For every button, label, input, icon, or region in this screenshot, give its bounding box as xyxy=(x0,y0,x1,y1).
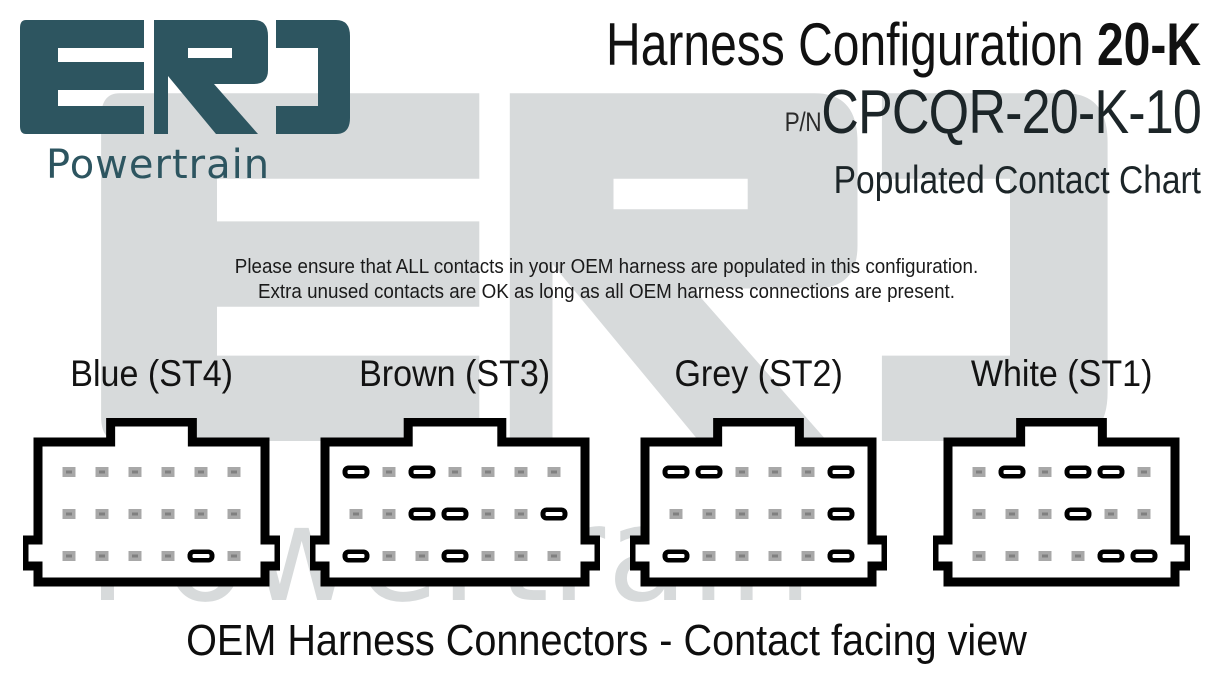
cavity-empty xyxy=(735,509,748,519)
cavity-empty xyxy=(96,551,109,561)
cavity-populated xyxy=(1097,550,1124,563)
cavity-populated xyxy=(1097,466,1124,479)
cavity-empty xyxy=(1038,467,1051,477)
cavity-empty xyxy=(768,467,781,477)
housing-outline xyxy=(24,422,279,582)
cavity-empty xyxy=(768,551,781,561)
cavity-empty xyxy=(1071,551,1084,561)
cavity-empty xyxy=(547,551,560,561)
connector-label-white-st1: White (ST1) xyxy=(922,350,1201,402)
part-number-label: P/N xyxy=(785,107,822,137)
connector-label-brown-st3: Brown (ST3) xyxy=(315,350,594,402)
cavity-populated xyxy=(188,550,215,563)
connector-white-st1 xyxy=(910,418,1213,614)
cavity-populated xyxy=(1130,550,1157,563)
cavity-empty xyxy=(195,467,208,477)
cavity-empty xyxy=(63,467,76,477)
cavity-empty xyxy=(349,509,362,519)
cavity-empty xyxy=(129,467,142,477)
cavity-empty xyxy=(972,509,985,519)
header: Powertrain Harness Configuration 20-K P/… xyxy=(0,0,1213,240)
cavity-empty xyxy=(669,509,682,519)
cavity-empty xyxy=(382,509,395,519)
cavity-empty xyxy=(162,467,175,477)
cavity-empty xyxy=(63,551,76,561)
cavity-empty xyxy=(735,551,748,561)
cavity-empty xyxy=(96,467,109,477)
cavity-empty xyxy=(801,467,814,477)
cavity-populated xyxy=(827,508,854,521)
part-number-value: CPCQR-20-K-10 xyxy=(821,78,1201,147)
connector-housing-grey-st2 xyxy=(630,418,887,588)
cavity-populated xyxy=(695,466,722,479)
cavity-empty xyxy=(415,551,428,561)
part-number-line: P/NCPCQR-20-K-10 xyxy=(495,84,1201,158)
cavity-empty xyxy=(228,467,241,477)
erd-logo-mark xyxy=(18,14,358,142)
connector-diagram-row xyxy=(0,418,1213,614)
cavity-empty xyxy=(1005,551,1018,561)
cavity-populated xyxy=(408,508,435,521)
cavity-populated xyxy=(342,466,369,479)
cavity-empty xyxy=(129,551,142,561)
footer-caption: OEM Harness Connectors - Contact facing … xyxy=(61,612,1153,670)
page-title: Harness Configuration 20-K xyxy=(529,14,1201,76)
notice-line-1: Please ensure that ALL contacts in your … xyxy=(36,255,1176,280)
cavity-empty xyxy=(162,509,175,519)
brand-wordmark: Powertrain xyxy=(46,142,270,188)
cavity-empty xyxy=(448,467,461,477)
connector-grey-st2 xyxy=(607,418,910,614)
cavity-empty xyxy=(514,509,527,519)
cavity-empty xyxy=(162,551,175,561)
cavity-empty xyxy=(702,509,715,519)
title-block: Harness Configuration 20-K P/NCPCQR-20-K… xyxy=(361,14,1201,203)
cavity-empty xyxy=(1137,509,1150,519)
cavity-populated xyxy=(441,508,468,521)
cavity-populated xyxy=(540,508,567,521)
cavity-empty xyxy=(481,551,494,561)
cavity-empty xyxy=(481,509,494,519)
cavity-empty xyxy=(1038,551,1051,561)
connector-housing-brown-st3 xyxy=(310,418,600,588)
cavity-populated xyxy=(1064,508,1091,521)
cavity-empty xyxy=(801,551,814,561)
cavity-empty xyxy=(1137,467,1150,477)
cavity-populated xyxy=(1064,466,1091,479)
cavity-empty xyxy=(702,551,715,561)
cavity-populated xyxy=(662,550,689,563)
cavity-empty xyxy=(96,509,109,519)
page-subtitle: Populated Contact Chart xyxy=(479,159,1201,203)
cavity-empty xyxy=(768,509,781,519)
cavity-populated xyxy=(342,550,369,563)
notice-block: Please ensure that ALL contacts in your … xyxy=(0,255,1213,305)
cavity-empty xyxy=(1005,509,1018,519)
notice-line-2: Extra unused contacts are OK as long as … xyxy=(36,280,1176,305)
brand-logo: Powertrain xyxy=(18,14,358,194)
document-page: Powertrain Harness Configuration 20-K P/… xyxy=(0,0,1213,682)
cavity-populated xyxy=(441,550,468,563)
cavity-populated xyxy=(827,466,854,479)
connector-label-grey-st2: Grey (ST2) xyxy=(619,350,898,402)
cavity-empty xyxy=(1038,509,1051,519)
cavity-empty xyxy=(801,509,814,519)
cavity-empty xyxy=(228,509,241,519)
cavity-empty xyxy=(547,467,560,477)
cavity-empty xyxy=(63,509,76,519)
cavity-empty xyxy=(972,551,985,561)
cavity-empty xyxy=(514,551,527,561)
cavity-empty xyxy=(1104,509,1117,519)
connector-housing-blue-st4 xyxy=(23,418,280,588)
cavity-empty xyxy=(514,467,527,477)
cavity-populated xyxy=(827,550,854,563)
cavity-empty xyxy=(382,551,395,561)
connector-label-row: Blue (ST4)Brown (ST3)Grey (ST2)White (ST… xyxy=(0,350,1213,402)
cavity-populated xyxy=(408,466,435,479)
cavity-empty xyxy=(735,467,748,477)
connector-label-blue-st4: Blue (ST4) xyxy=(12,350,291,402)
cavity-empty xyxy=(228,551,241,561)
connector-blue-st4 xyxy=(0,418,303,614)
cavity-empty xyxy=(382,467,395,477)
connector-brown-st3 xyxy=(303,418,606,614)
cavity-populated xyxy=(998,466,1025,479)
connector-housing-white-st1 xyxy=(933,418,1190,588)
cavity-empty xyxy=(129,509,142,519)
cavity-empty xyxy=(972,467,985,477)
page-title-code: 20-K xyxy=(1097,11,1201,78)
page-title-prefix: Harness Configuration xyxy=(606,11,1097,78)
cavity-empty xyxy=(481,467,494,477)
cavity-populated xyxy=(662,466,689,479)
cavity-empty xyxy=(195,509,208,519)
